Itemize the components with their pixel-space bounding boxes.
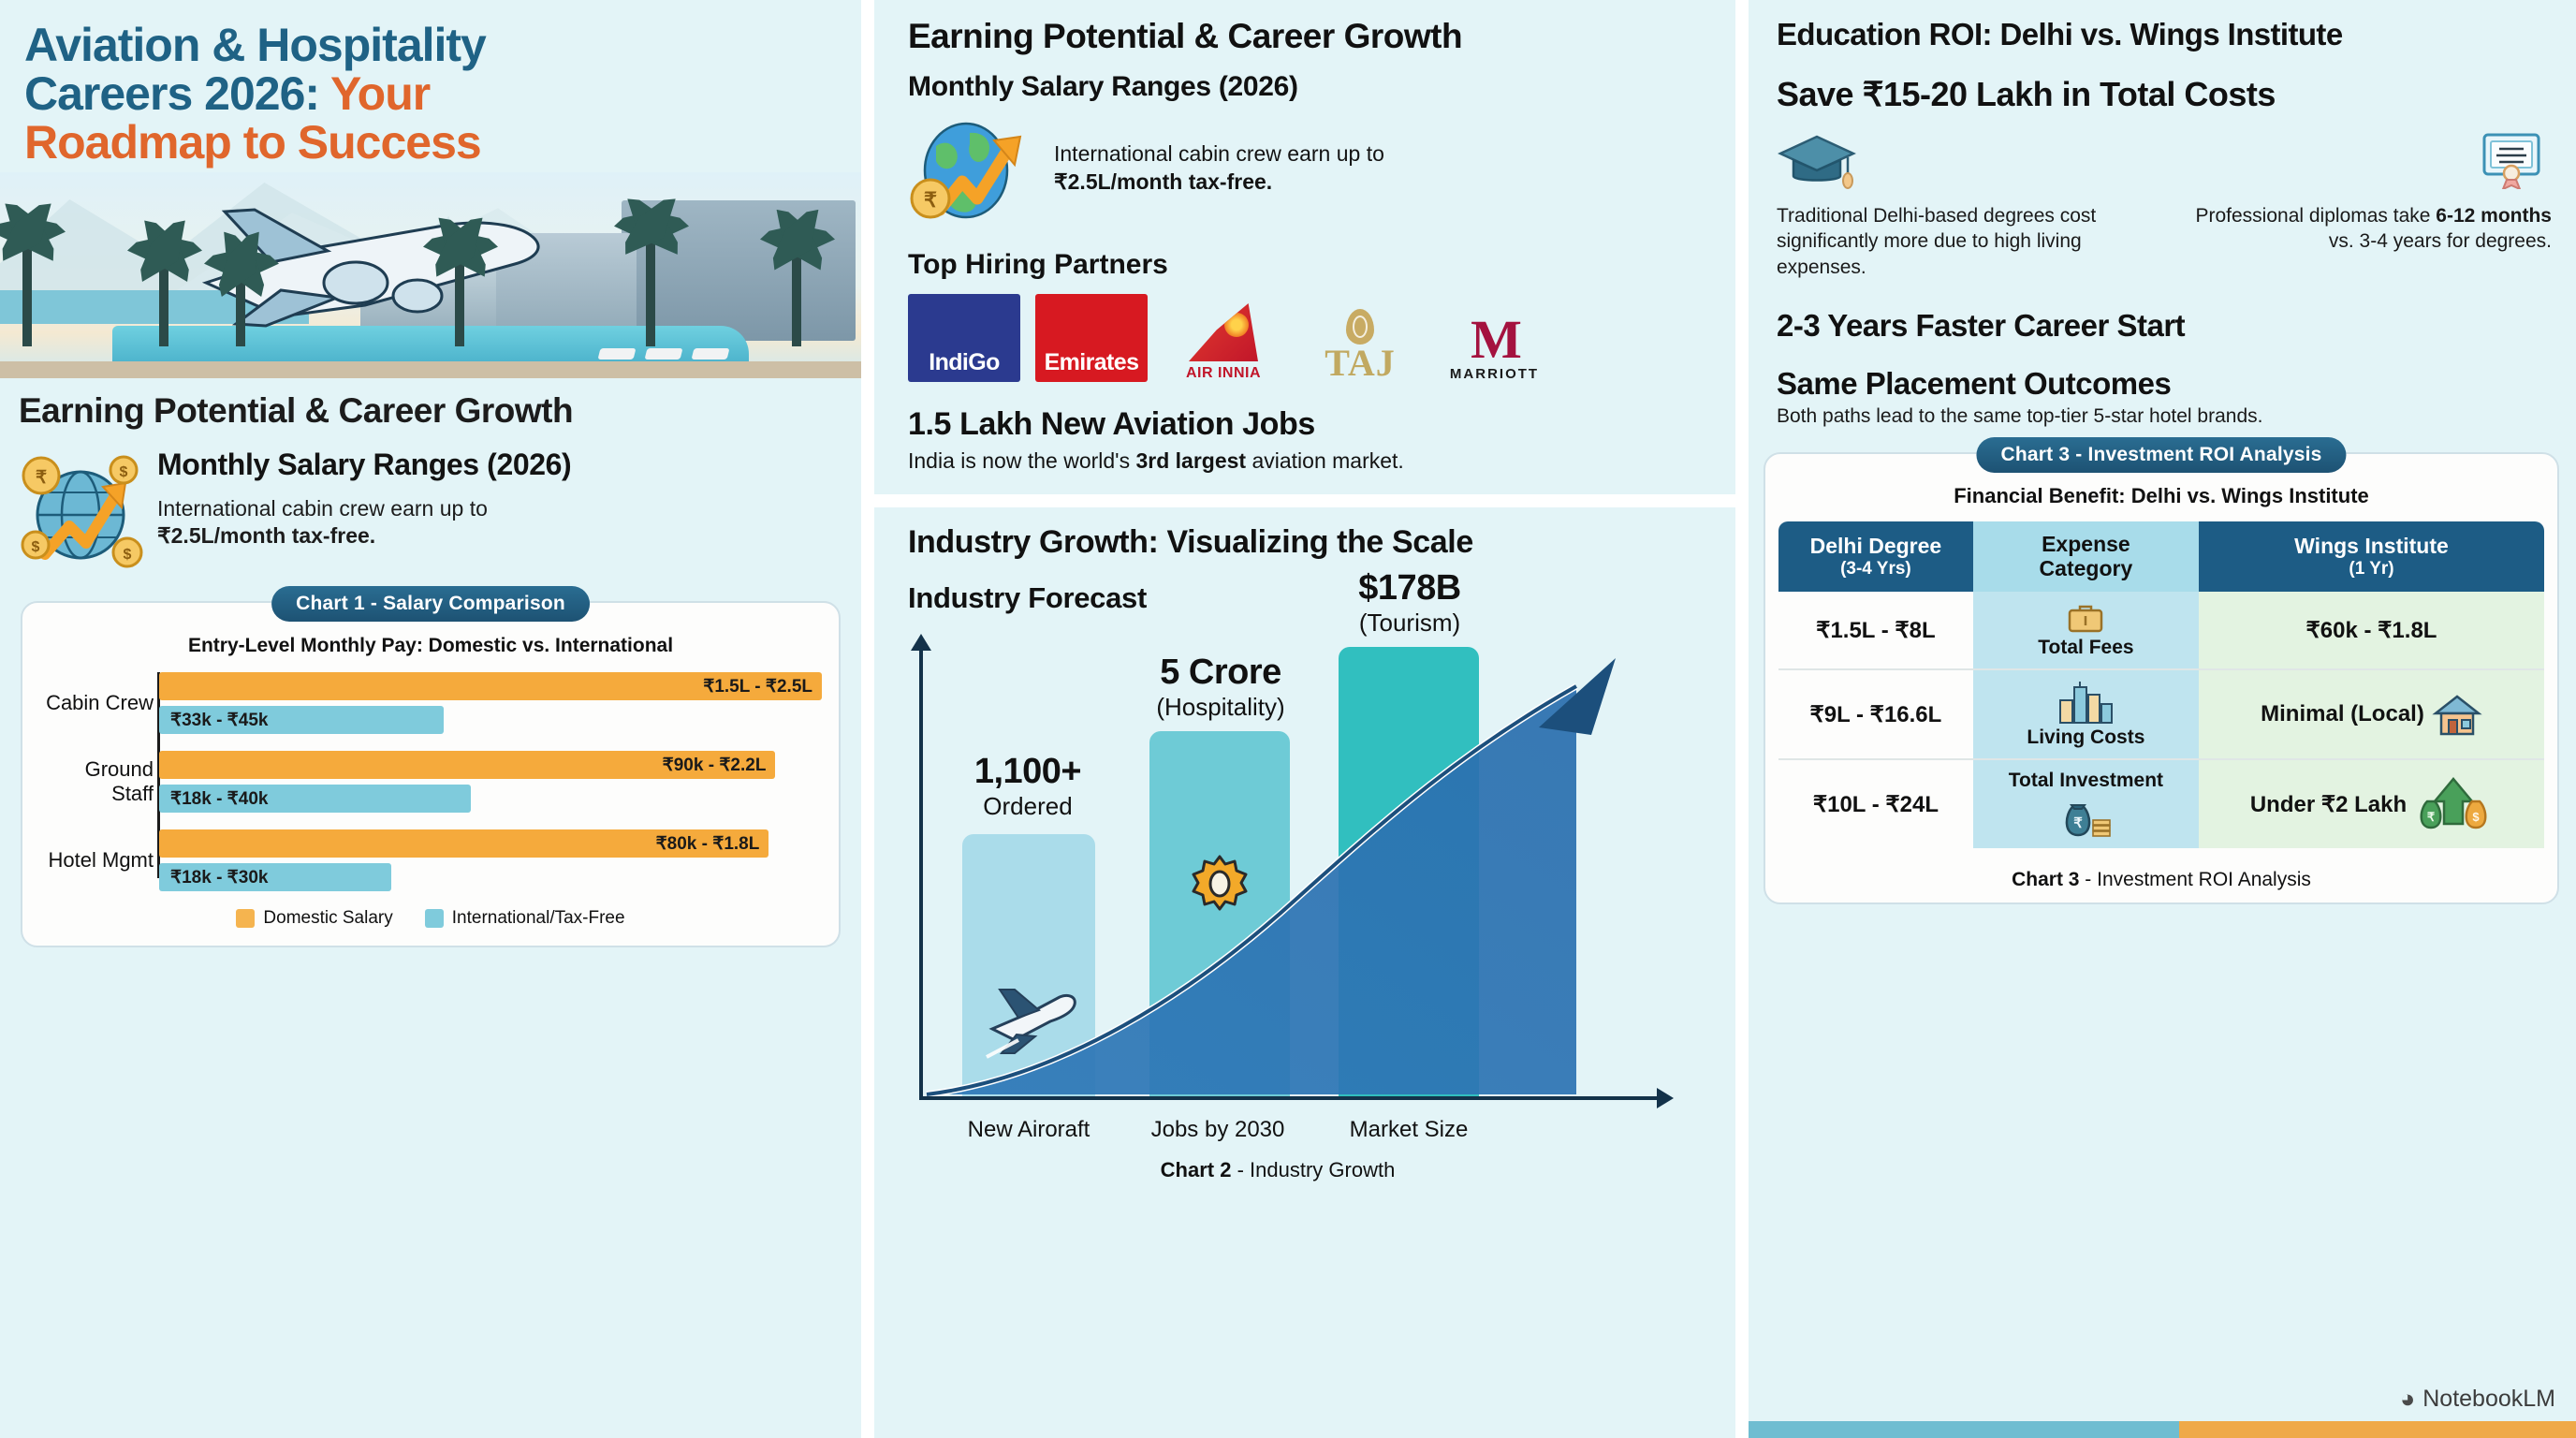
house-icon bbox=[2432, 693, 2482, 736]
table-row: ₹1.5L - ₹8L Total Fees ₹6 bbox=[1778, 592, 2544, 668]
cell-category-fees: Total Fees bbox=[1973, 592, 2199, 668]
cell-wings-living: Minimal (Local) bbox=[2199, 668, 2544, 758]
chart2-label-new-aircraft: 1,100+ Ordered bbox=[934, 752, 1121, 821]
legend-item-international: International/Tax-Free bbox=[425, 908, 625, 929]
chart2-xtick-jobs-2030: Jobs by 2030 bbox=[1129, 1117, 1307, 1143]
cell-delhi-total: ₹10L - ₹24L bbox=[1778, 758, 1973, 848]
column-header-delhi: Delhi Degree (3-4 Yrs) bbox=[1778, 521, 1973, 593]
jobs-body: India is now the world's 3rd largest avi… bbox=[908, 448, 1707, 474]
left-section-heading: Earning Potential & Career Growth bbox=[0, 378, 861, 433]
save-heading: Save ₹15-20 Lakh in Total Costs bbox=[1777, 75, 2552, 114]
legend-item-domestic: Domestic Salary bbox=[236, 908, 392, 929]
chart2-xtick-market-size: Market Size bbox=[1320, 1117, 1498, 1143]
cell-wings-fees: ₹60k - ₹1.8L bbox=[2199, 592, 2544, 668]
salary-intro-block: ₹ $ $ $ Monthly Salary Ranges (2026) Int… bbox=[0, 433, 861, 577]
chart2-caption: Chart 2 - Industry Growth bbox=[908, 1158, 1647, 1182]
marriott-logo-label: MARRIOTT bbox=[1450, 366, 1539, 382]
chart2-label-market-size: $178B (Tourism) bbox=[1316, 568, 1503, 638]
air-india-logo: AIR INNIA bbox=[1163, 294, 1284, 382]
chart1-bar-domestic: ₹1.5L - ₹2.5L bbox=[159, 672, 822, 700]
column-divider-1 bbox=[861, 0, 874, 1438]
infographic-page: Aviation & Hospitality Careers 2026: You… bbox=[0, 0, 2576, 1438]
gear-icon bbox=[1189, 853, 1251, 915]
green-up-arrow-money-icon: ₹ $ bbox=[2414, 777, 2493, 831]
chart3-card: Chart 3 - Investment ROI Analysis Financ… bbox=[1764, 452, 2559, 905]
svg-text:$: $ bbox=[124, 547, 132, 563]
footer-bar-orange bbox=[2179, 1421, 2576, 1438]
middle-bottom-block: Industry Growth: Visualizing the Scale I… bbox=[874, 507, 1735, 1258]
delhi-cost-block: Traditional Delhi-based degrees cost sig… bbox=[1777, 131, 2158, 280]
notebooklm-label: NotebookLM bbox=[2422, 1386, 2555, 1413]
air-india-logo-label: AIR INNIA bbox=[1186, 365, 1261, 382]
indigo-logo-label: IndiGo bbox=[929, 349, 1000, 376]
chart1-bar-international: ₹33k - ₹45k bbox=[159, 706, 444, 734]
airplane-icon bbox=[981, 975, 1084, 1059]
salary-body-line-1: International cabin crew earn up to bbox=[157, 496, 488, 521]
cell-wings-total: Under ₹2 Lakh ₹ $ bbox=[2199, 758, 2544, 848]
table-row: ₹10L - ₹24L Total Investment ₹ bbox=[1778, 758, 2544, 848]
placement-body: Both paths lead to the same top-tier 5-s… bbox=[1777, 405, 2552, 428]
chart1-bar-domestic: ₹80k - ₹1.8L bbox=[159, 829, 768, 858]
delhi-cost-body: Traditional Delhi-based degrees cost sig… bbox=[1777, 203, 2158, 280]
taj-logo-label: TAJ bbox=[1325, 345, 1396, 382]
chart1-group-hotel-mgmt: Hotel Mgmt₹80k - ₹1.8L₹18k - ₹30k bbox=[159, 829, 822, 891]
middle-subheading: Monthly Salary Ranges (2026) bbox=[908, 71, 1707, 103]
right-column: Education ROI: Delhi vs. Wings Institute… bbox=[1749, 0, 2576, 1438]
title-line-2a: Careers 2026: bbox=[24, 67, 330, 120]
svg-text:$: $ bbox=[2473, 810, 2481, 824]
cell-delhi-fees: ₹1.5L - ₹8L bbox=[1778, 592, 1973, 668]
partners-heading: Top Hiring Partners bbox=[908, 249, 1707, 281]
chart1-group-ground-staff: Ground Staff₹90k - ₹2.2L₹18k - ₹40k bbox=[159, 751, 822, 813]
chart1-legend: Domestic Salary International/Tax-Free bbox=[39, 908, 822, 932]
salary-heading: Monthly Salary Ranges (2026) bbox=[157, 448, 571, 482]
partner-logos: IndiGo Emirates AIR INNIA TAJ M MARRIOTT bbox=[908, 294, 1707, 382]
title-line-3: Roadmap to Success bbox=[24, 116, 481, 169]
svg-text:$: $ bbox=[32, 539, 40, 555]
legend-swatch-international bbox=[425, 909, 444, 928]
footer-bar-teal bbox=[1749, 1421, 2179, 1438]
indigo-logo: IndiGo bbox=[908, 294, 1020, 382]
chart2-x-axis bbox=[919, 1096, 1659, 1100]
chart3-badge: Chart 3 - Investment ROI Analysis bbox=[1976, 437, 2346, 473]
middle-horizontal-divider bbox=[874, 494, 1735, 507]
cell-category-living: Living Costs bbox=[1973, 668, 2199, 758]
jobs-body-post: aviation market. bbox=[1246, 448, 1404, 473]
diploma-duration-body: Professional diplomas take 6-12 months v… bbox=[2171, 203, 2552, 255]
legend-swatch-domestic bbox=[236, 909, 255, 928]
page-title: Aviation & Hospitality Careers 2026: You… bbox=[0, 0, 861, 172]
middle-globe-body-1: International cabin crew earn up to bbox=[1054, 141, 1384, 166]
salary-body-line-2: ₹2.5L/month tax-free. bbox=[157, 523, 375, 548]
briefcase-icon bbox=[2066, 601, 2105, 635]
title-line-2b: Your bbox=[330, 67, 430, 120]
chart1-badge: Chart 1 - Salary Comparison bbox=[271, 586, 590, 622]
jobs-body-pre: India is now the world's bbox=[908, 448, 1135, 473]
chart1-bar-international: ₹18k - ₹30k bbox=[159, 863, 391, 891]
city-buildings-icon bbox=[2056, 680, 2115, 725]
emirates-logo-label: Emirates bbox=[1045, 349, 1139, 376]
svg-text:$: $ bbox=[120, 464, 128, 480]
diploma-certificate-icon bbox=[2471, 131, 2552, 189]
graduation-cap-icon bbox=[1777, 131, 1857, 189]
chart3-caption: Chart 3 - Investment ROI Analysis bbox=[1778, 869, 2544, 891]
middle-heading: Earning Potential & Career Growth bbox=[908, 17, 1707, 56]
table-header-row: Delhi Degree (3-4 Yrs) Expense Category … bbox=[1778, 521, 2544, 593]
middle-top-block: Earning Potential & Career Growth Monthl… bbox=[874, 0, 1735, 474]
cell-category-total: Total Investment ₹ bbox=[1973, 758, 2199, 848]
faster-career-heading: 2-3 Years Faster Career Start bbox=[1777, 308, 2552, 344]
notebooklm-watermark: ◕ NotebookLM bbox=[2400, 1385, 2555, 1414]
svg-text:₹: ₹ bbox=[924, 188, 937, 212]
title-line-1: Aviation & Hospitality bbox=[24, 19, 486, 71]
chart3-subtitle: Financial Benefit: Delhi vs. Wings Insti… bbox=[1778, 484, 2544, 508]
money-bag-icon: ₹ bbox=[2057, 794, 2114, 839]
legend-label-domestic: Domestic Salary bbox=[263, 908, 392, 929]
legend-label-international: International/Tax-Free bbox=[452, 908, 625, 929]
taj-logo: TAJ bbox=[1299, 294, 1421, 382]
middle-column: Earning Potential & Career Growth Monthl… bbox=[874, 0, 1735, 1438]
chart2-label-jobs-2030: 5 Crore (Hospitality) bbox=[1116, 653, 1325, 722]
globe-rupee-growth-icon: ₹ $ $ $ bbox=[13, 436, 154, 577]
chart1-category-label: Hotel Mgmt bbox=[41, 848, 154, 873]
column-divider-2 bbox=[1735, 0, 1749, 1438]
chart2-plot: 1,100+ Ordered 5 Crore (Hospitality) $17… bbox=[908, 624, 1700, 1149]
right-heading: Education ROI: Delhi vs. Wings Institute bbox=[1777, 17, 2552, 52]
roi-table: Delhi Degree (3-4 Yrs) Expense Category … bbox=[1778, 521, 2544, 849]
svg-text:₹: ₹ bbox=[2074, 815, 2084, 831]
notebooklm-icon: ◕ bbox=[2400, 1385, 2415, 1414]
chart1-bar-domestic: ₹90k - ₹2.2L bbox=[159, 751, 775, 779]
column-header-wings: Wings Institute (1 Yr) bbox=[2199, 521, 2544, 593]
jobs-heading: 1.5 Lakh New Aviation Jobs bbox=[908, 406, 1707, 443]
svg-text:₹: ₹ bbox=[36, 468, 47, 488]
cell-delhi-living: ₹9L - ₹16.6L bbox=[1778, 668, 1973, 758]
globe-rupee-growth-icon: ₹ bbox=[908, 112, 1039, 225]
airplane-resort-hero-illustration bbox=[0, 172, 861, 378]
growth-heading: Industry Growth: Visualizing the Scale bbox=[908, 524, 1707, 561]
table-row: ₹9L - ₹16.6L Living Costs bbox=[1778, 668, 2544, 758]
marriott-logo: M MARRIOTT bbox=[1436, 294, 1553, 382]
diploma-duration-block: Professional diplomas take 6-12 months v… bbox=[2171, 131, 2552, 280]
chart1-group-cabin-crew: Cabin Crew₹1.5L - ₹2.5L₹33k - ₹45k bbox=[159, 672, 822, 734]
jobs-body-bold: 3rd largest bbox=[1135, 448, 1246, 473]
middle-globe-body-2: ₹2.5L/month tax-free. bbox=[1054, 169, 1272, 194]
growth-subheading: Industry Forecast bbox=[908, 581, 1707, 615]
footer-color-bar bbox=[1749, 1421, 2576, 1438]
emirates-logo: Emirates bbox=[1035, 294, 1148, 382]
chart1-category-label: Ground Staff bbox=[41, 757, 154, 806]
svg-text:₹: ₹ bbox=[2427, 810, 2436, 824]
chart1-subtitle: Entry-Level Monthly Pay: Domestic vs. In… bbox=[39, 635, 822, 657]
chart1-bar-international: ₹18k - ₹40k bbox=[159, 785, 471, 813]
chart2-xtick-new-aircraft: New Airoraft bbox=[940, 1117, 1118, 1143]
placement-heading: Same Placement Outcomes bbox=[1777, 366, 2552, 402]
column-header-expense: Expense Category bbox=[1973, 521, 2199, 593]
chart1-plot: Cabin Crew₹1.5L - ₹2.5L₹33k - ₹45kGround… bbox=[39, 672, 822, 891]
chart1-category-label: Cabin Crew bbox=[41, 691, 154, 715]
left-column: Aviation & Hospitality Careers 2026: You… bbox=[0, 0, 861, 1438]
chart1-card: Chart 1 - Salary Comparison Entry-Level … bbox=[21, 601, 841, 947]
